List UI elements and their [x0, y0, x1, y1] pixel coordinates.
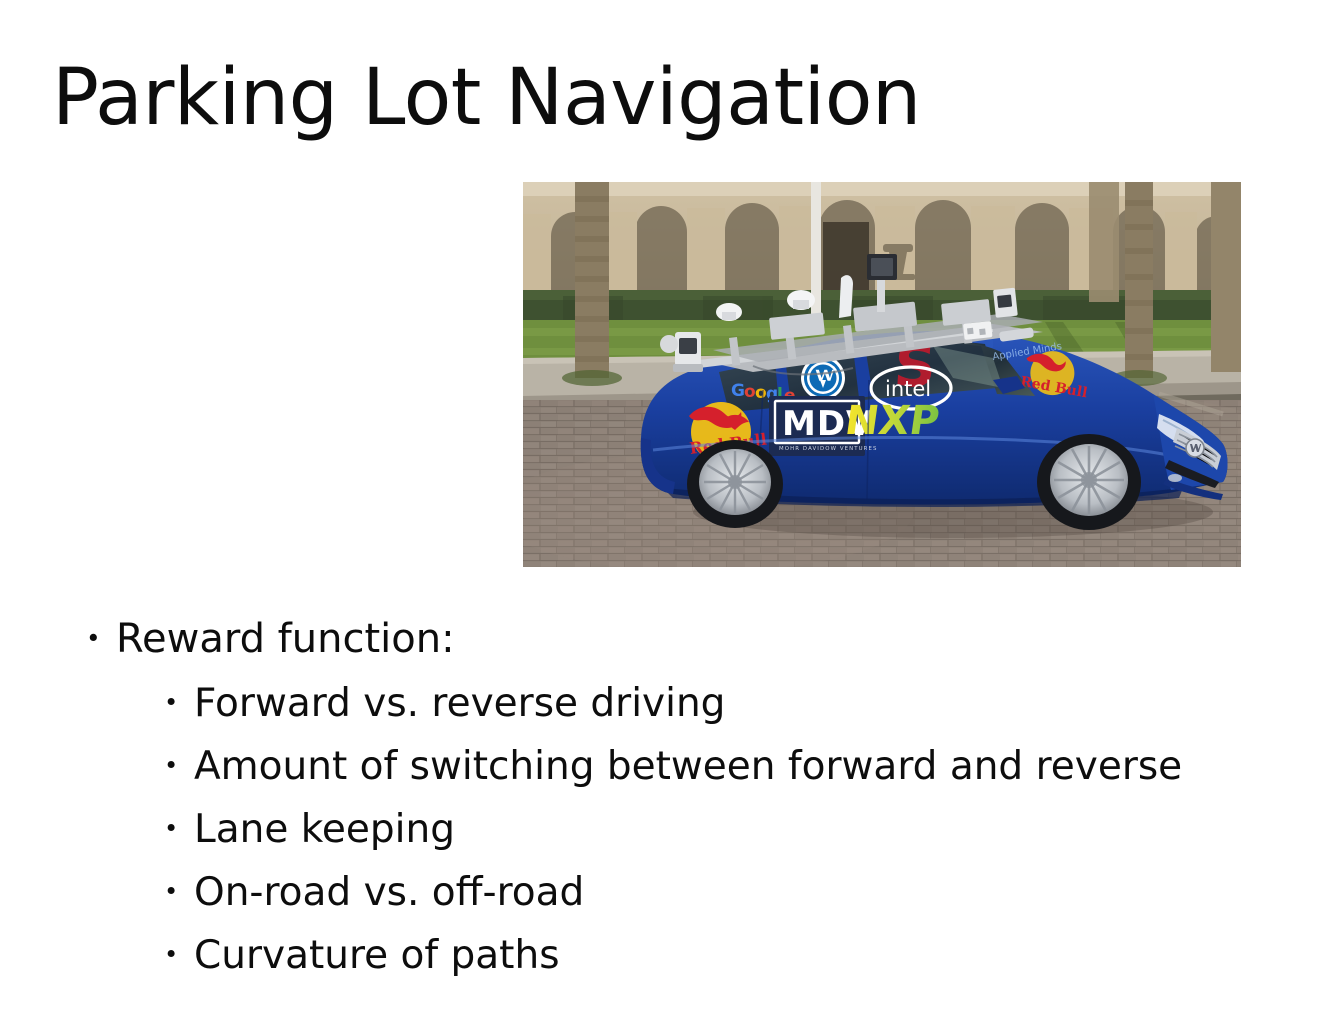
bullet-marker-icon: •	[164, 691, 194, 715]
slide: Parking Lot Navigation	[0, 0, 1340, 1012]
list-item: • Lane keeping	[0, 798, 1340, 861]
list-item: • On-road vs. off-road	[0, 861, 1340, 924]
list-item: • Forward vs. reverse driving	[0, 672, 1340, 735]
list-item: • Curvature of paths	[0, 924, 1340, 987]
bullet-list: • Reward function: • Forward vs. reverse…	[0, 608, 1340, 987]
front-wheel	[1037, 434, 1141, 530]
bullet-marker-icon: •	[164, 943, 194, 967]
bullet-marker-icon: •	[164, 880, 194, 904]
page-title: Parking Lot Navigation	[52, 52, 921, 144]
bullet-marker-icon: •	[164, 754, 194, 778]
bullet-text: Forward vs. reverse driving	[194, 672, 725, 735]
list-item: • Reward function:	[0, 608, 1340, 670]
bullet-text: Lane keeping	[194, 798, 455, 861]
svg-text:MOHR DAVIDOW VENTURES: MOHR DAVIDOW VENTURES	[779, 446, 878, 452]
rear-wheel	[687, 440, 783, 528]
bullet-text: Reward function:	[116, 608, 455, 670]
list-item: • Amount of switching between forward an…	[0, 735, 1340, 798]
svg-text:o: o	[755, 383, 767, 403]
bullet-marker-icon: •	[164, 817, 194, 841]
bullet-text: On-road vs. off-road	[194, 861, 584, 924]
svg-text:G: G	[731, 381, 745, 401]
bullet-text: Amount of switching between forward and …	[194, 735, 1182, 798]
autonomous-car-photo: S G o o g l e	[523, 182, 1241, 567]
photo-illustration: S G o o g l e	[523, 182, 1241, 567]
bullet-marker-icon: •	[86, 627, 116, 652]
bullet-text: Curvature of paths	[194, 924, 560, 987]
svg-text:o: o	[744, 382, 756, 402]
